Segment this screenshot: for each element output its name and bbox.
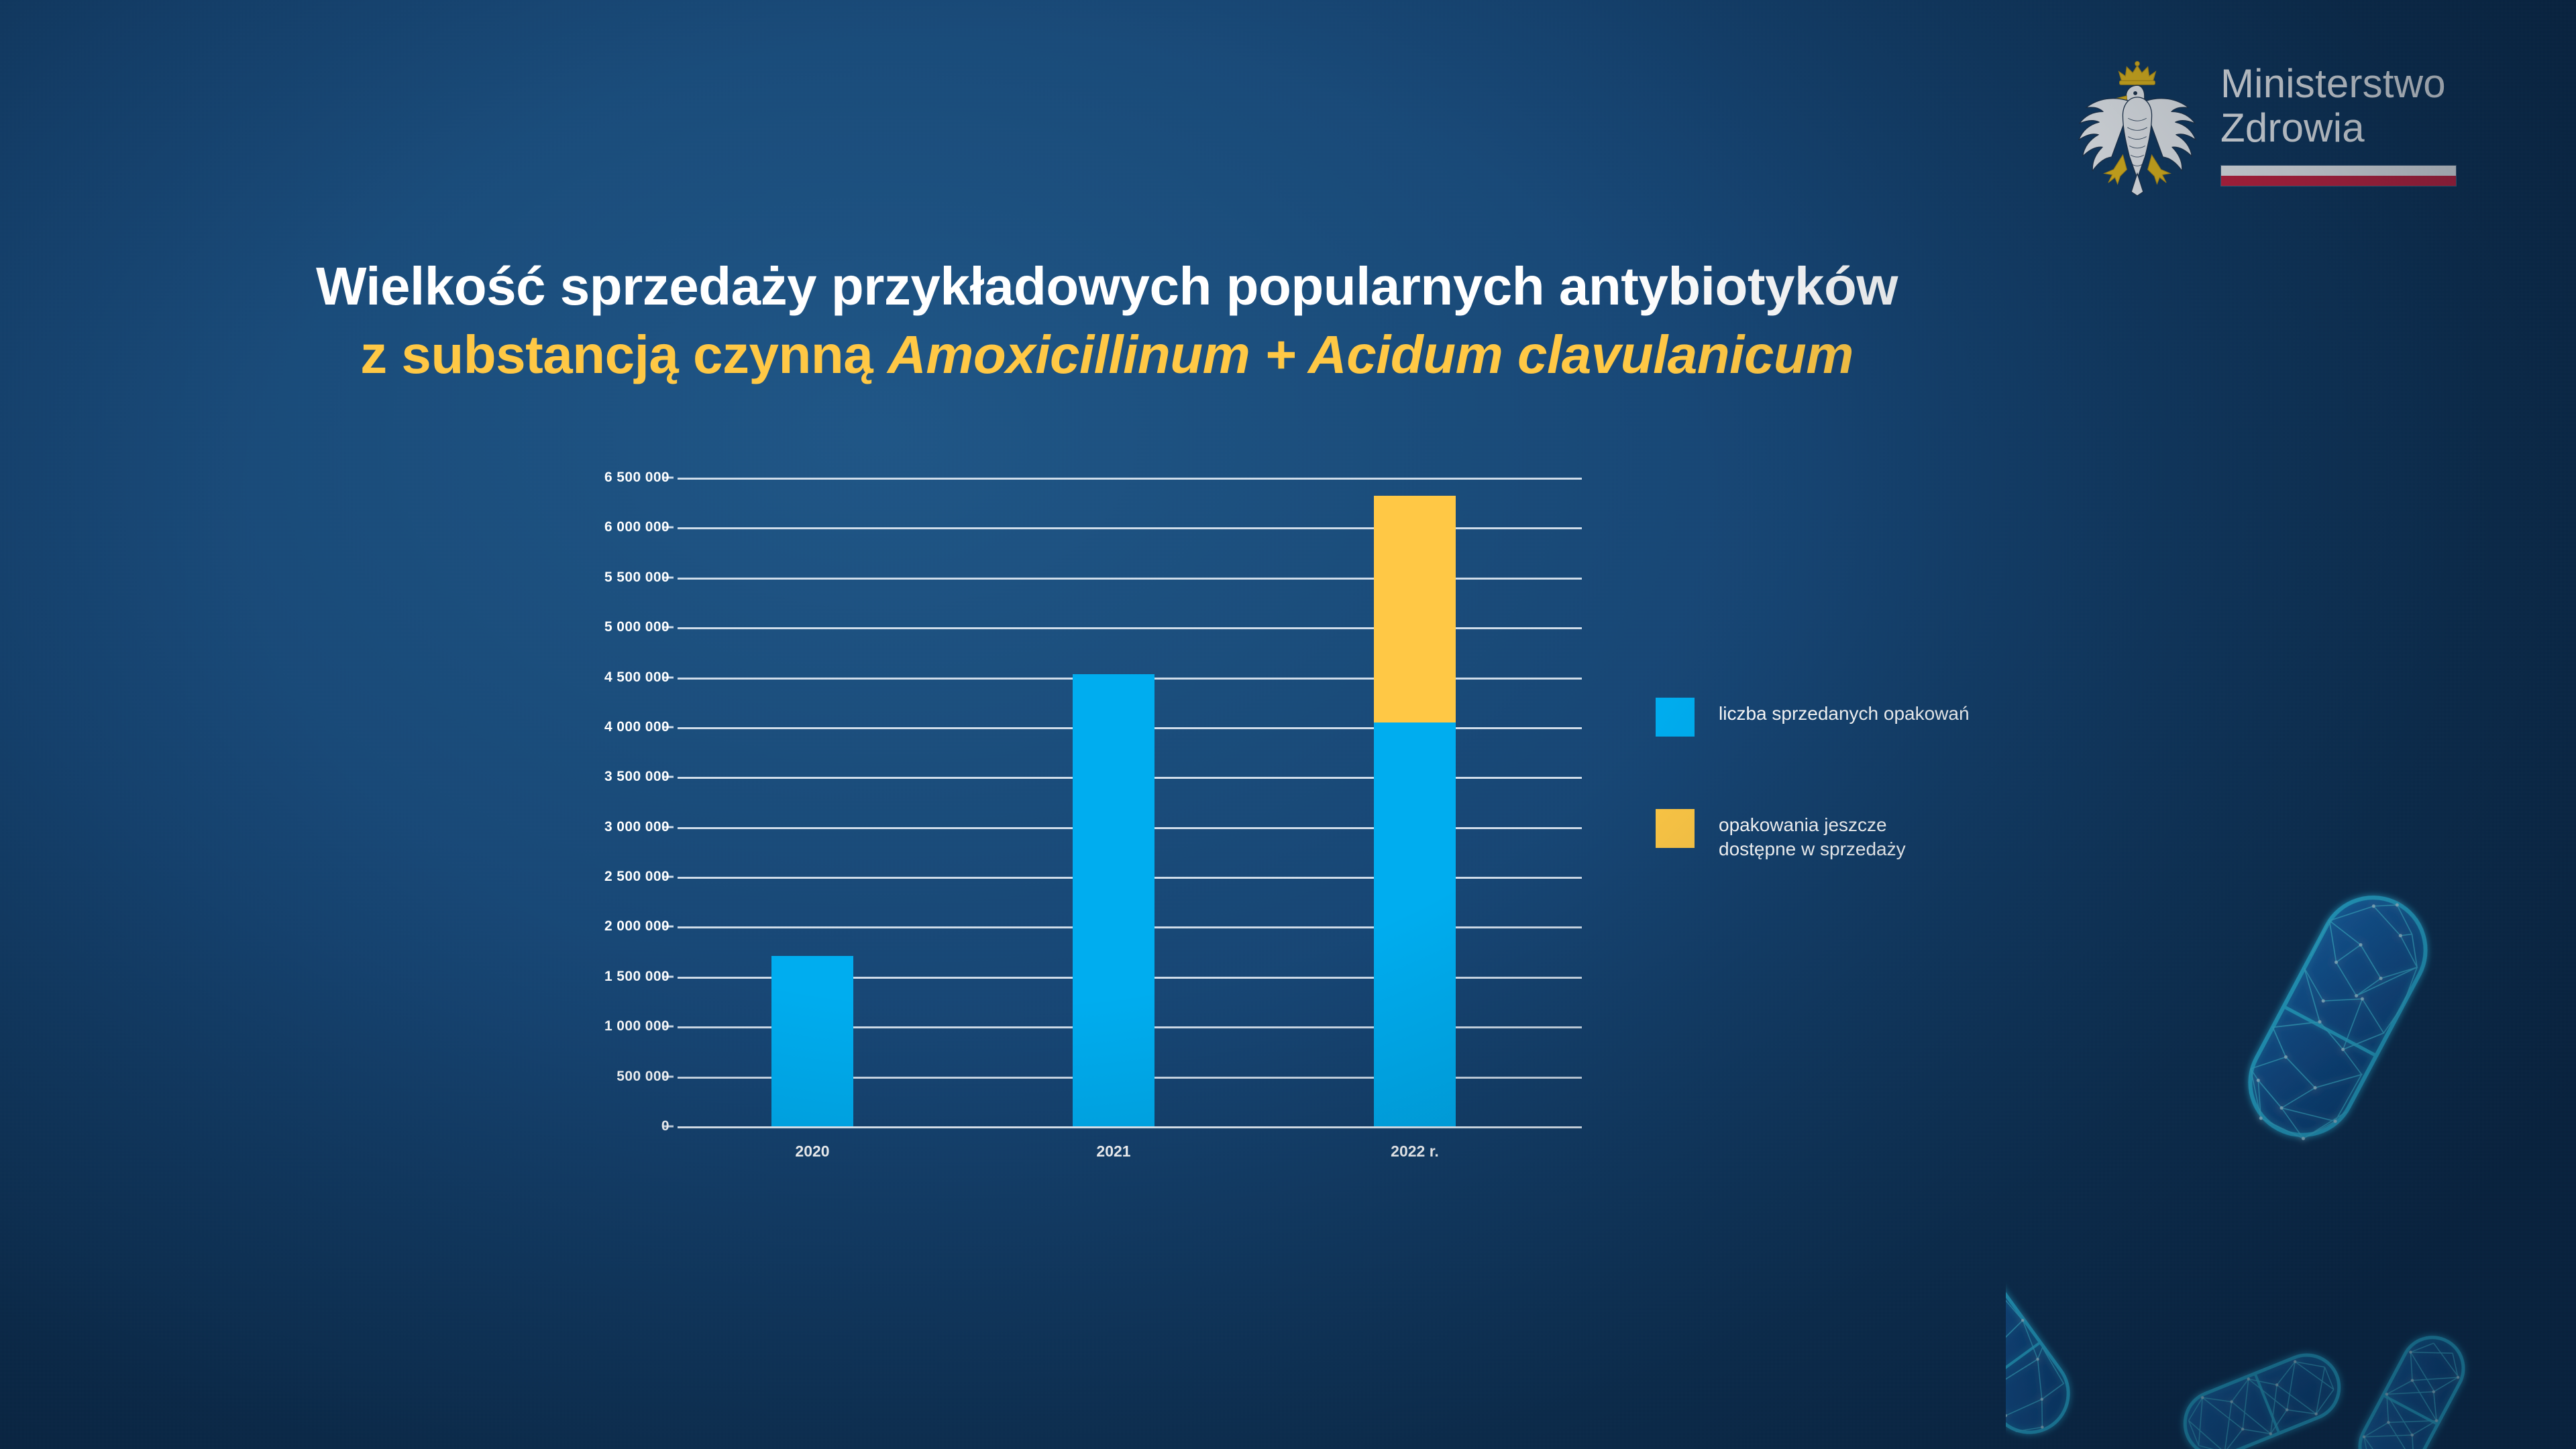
y-axis-tick-label: 6 000 000 (604, 519, 669, 535)
y-axis-tick-label: 0 (661, 1118, 669, 1134)
x-axis-label: 2021 (1096, 1142, 1130, 1161)
ministry-logo-text: Ministerstwo Zdrowia (2220, 55, 2457, 186)
x-axis-label: 2020 (795, 1142, 829, 1161)
bar-2021[interactable] (1073, 674, 1155, 1126)
legend-color-swatch (1656, 698, 1695, 737)
x-axis-baseline (678, 1126, 1582, 1128)
y-axis-tick-label: 6 500 000 (604, 470, 669, 486)
page-title: Wielkość sprzedaży przykładowych popular… (0, 255, 2214, 318)
y-axis-tick-label: 500 000 (616, 1069, 669, 1085)
y-axis-tick-label: 4 000 000 (604, 719, 669, 735)
chart-legend: liczba sprzedanych opakowańopakowania je… (1656, 698, 1970, 934)
logo-line-1: Ministerstwo (2220, 62, 2457, 106)
flag-stripe-white (2221, 166, 2456, 176)
legend-label: opakowania jeszcze dostępne w sprzedaży (1719, 809, 1906, 862)
y-axis-tick-label: 5 000 000 (604, 619, 669, 635)
y-axis-tick-label: 2 000 000 (604, 918, 669, 934)
subtitle-prefix: z substancją czynną (360, 325, 888, 384)
bar-segment[interactable] (771, 956, 853, 1126)
legend-label: liczba sprzedanych opakowań (1719, 698, 1970, 726)
y-axis-tick-label: 4 500 000 (604, 669, 669, 686)
y-axis-tick-label: 1 500 000 (604, 969, 669, 985)
y-axis-tick-label: 3 500 000 (604, 769, 669, 785)
legend-color-swatch (1656, 809, 1695, 848)
subtitle-substance: Amoxicillinum + Acidum clavulanicum (888, 325, 1854, 384)
bar-2020[interactable] (771, 956, 853, 1126)
bar-chart: 6 500 0006 000 0005 500 0005 000 0004 50… (678, 478, 1582, 1126)
logo-line-2: Zdrowia (2220, 106, 2457, 150)
bar-segment[interactable] (1374, 722, 1456, 1127)
infographic-slide: Ministerstwo Zdrowia Wielkość sprzedaży … (0, 0, 2576, 1449)
wireframe-capsule-pills-illustration (2006, 845, 2576, 1449)
legend-item-1[interactable]: opakowania jeszcze dostępne w sprzedaży (1656, 809, 1970, 862)
gridline (678, 478, 1582, 480)
y-axis-tick-label: 5 500 000 (604, 570, 669, 586)
polish-eagle-emblem-icon (2072, 55, 2203, 196)
legend-item-0[interactable]: liczba sprzedanych opakowań (1656, 698, 1970, 737)
bar-2022r[interactable] (1374, 496, 1456, 1126)
flag-stripe-red (2221, 176, 2456, 186)
bar-segment[interactable] (1374, 496, 1456, 722)
x-axis-label: 2022 r. (1391, 1142, 1439, 1161)
bar-segment[interactable] (1073, 674, 1155, 1126)
y-axis-tick-label: 3 000 000 (604, 819, 669, 835)
page-subtitle: z substancją czynną Amoxicillinum + Acid… (0, 323, 2214, 386)
ministry-logo: Ministerstwo Zdrowia (2072, 55, 2457, 196)
y-axis-tick-label: 1 000 000 (604, 1018, 669, 1034)
polish-flag-bar (2220, 165, 2457, 186)
title-block: Wielkość sprzedaży przykładowych popular… (0, 255, 2214, 387)
y-axis-tick-label: 2 500 000 (604, 869, 669, 885)
